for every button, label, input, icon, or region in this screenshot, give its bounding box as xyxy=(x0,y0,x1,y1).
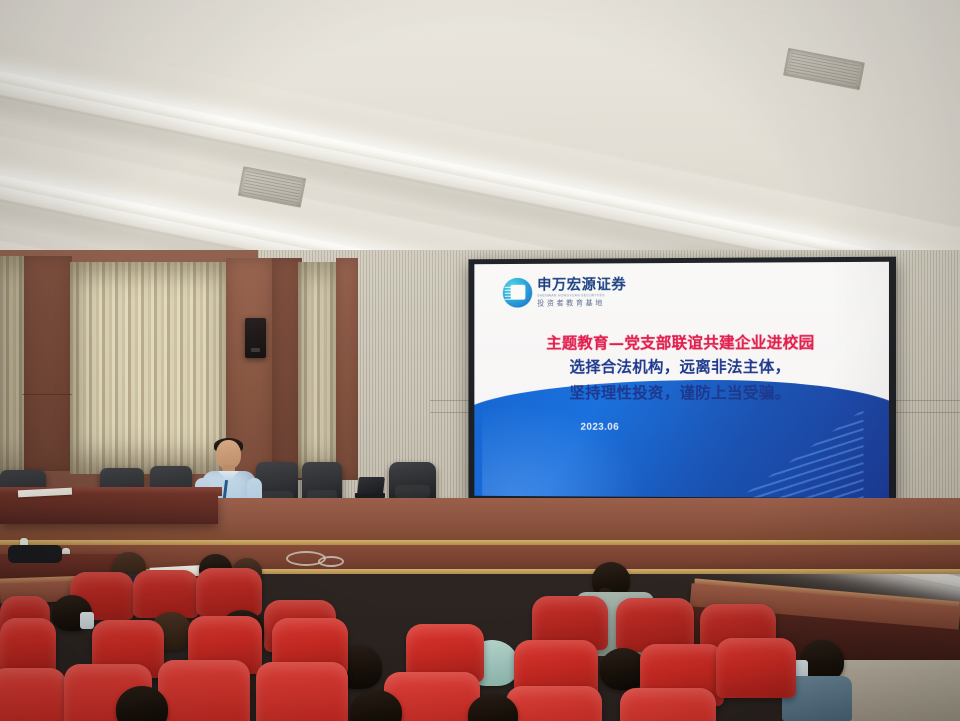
slide-body-line-1: 选择合法机构，远离非法主体， xyxy=(474,355,889,377)
wall-panel xyxy=(336,258,358,480)
auditorium-seat[interactable] xyxy=(0,668,66,721)
slide-date: 2023.06 xyxy=(580,422,619,433)
face-mask xyxy=(80,612,94,629)
auditorium-seat[interactable] xyxy=(256,662,348,721)
curtain xyxy=(298,262,338,478)
slide-body-line-2: 坚持理性投资，谨防上当受骗。 xyxy=(474,381,889,403)
auditorium-seat[interactable] xyxy=(620,688,716,721)
bag-on-table xyxy=(8,545,62,563)
auditorium-seat[interactable] xyxy=(506,686,602,721)
auditorium-seat[interactable] xyxy=(158,660,250,721)
logo-company-name-cn: 申万宏源证券 xyxy=(537,278,626,293)
curtain xyxy=(0,256,24,474)
wall-speaker-icon xyxy=(245,318,266,358)
projection-screen: 申万宏源证券 SHENWAN HONGYUAN SECURITIES 投资者教育… xyxy=(469,257,897,505)
front-table xyxy=(0,494,218,524)
screen-surface: 申万宏源证券 SHENWAN HONGYUAN SECURITIES 投资者教育… xyxy=(474,262,889,498)
logo-mark-icon xyxy=(503,278,532,308)
company-logo: 申万宏源证券 SHENWAN HONGYUAN SECURITIES 投资者教育… xyxy=(503,277,626,307)
presentation-slide: 申万宏源证券 SHENWAN HONGYUAN SECURITIES 投资者教育… xyxy=(474,262,889,498)
air-vent-icon xyxy=(783,48,865,90)
wall-panel xyxy=(22,256,72,471)
conference-hall-photo: 申万宏源证券 SHENWAN HONGYUAN SECURITIES 投资者教育… xyxy=(0,0,960,721)
logo-subtitle-cn: 投资者教育基地 xyxy=(537,299,626,307)
auditorium-seat[interactable] xyxy=(0,618,56,674)
floor-cable xyxy=(318,556,344,567)
logo-company-name-en: SHENWAN HONGYUAN SECURITIES xyxy=(537,294,626,298)
slide-title: 主题教育—党支部联谊共建企业进校园 xyxy=(474,330,889,353)
auditorium-seat[interactable] xyxy=(133,570,199,618)
slide-wave-highlight xyxy=(482,403,646,497)
auditorium-seat[interactable] xyxy=(196,568,262,616)
auditorium-seat[interactable] xyxy=(716,638,796,698)
laptop-screen xyxy=(357,477,385,494)
